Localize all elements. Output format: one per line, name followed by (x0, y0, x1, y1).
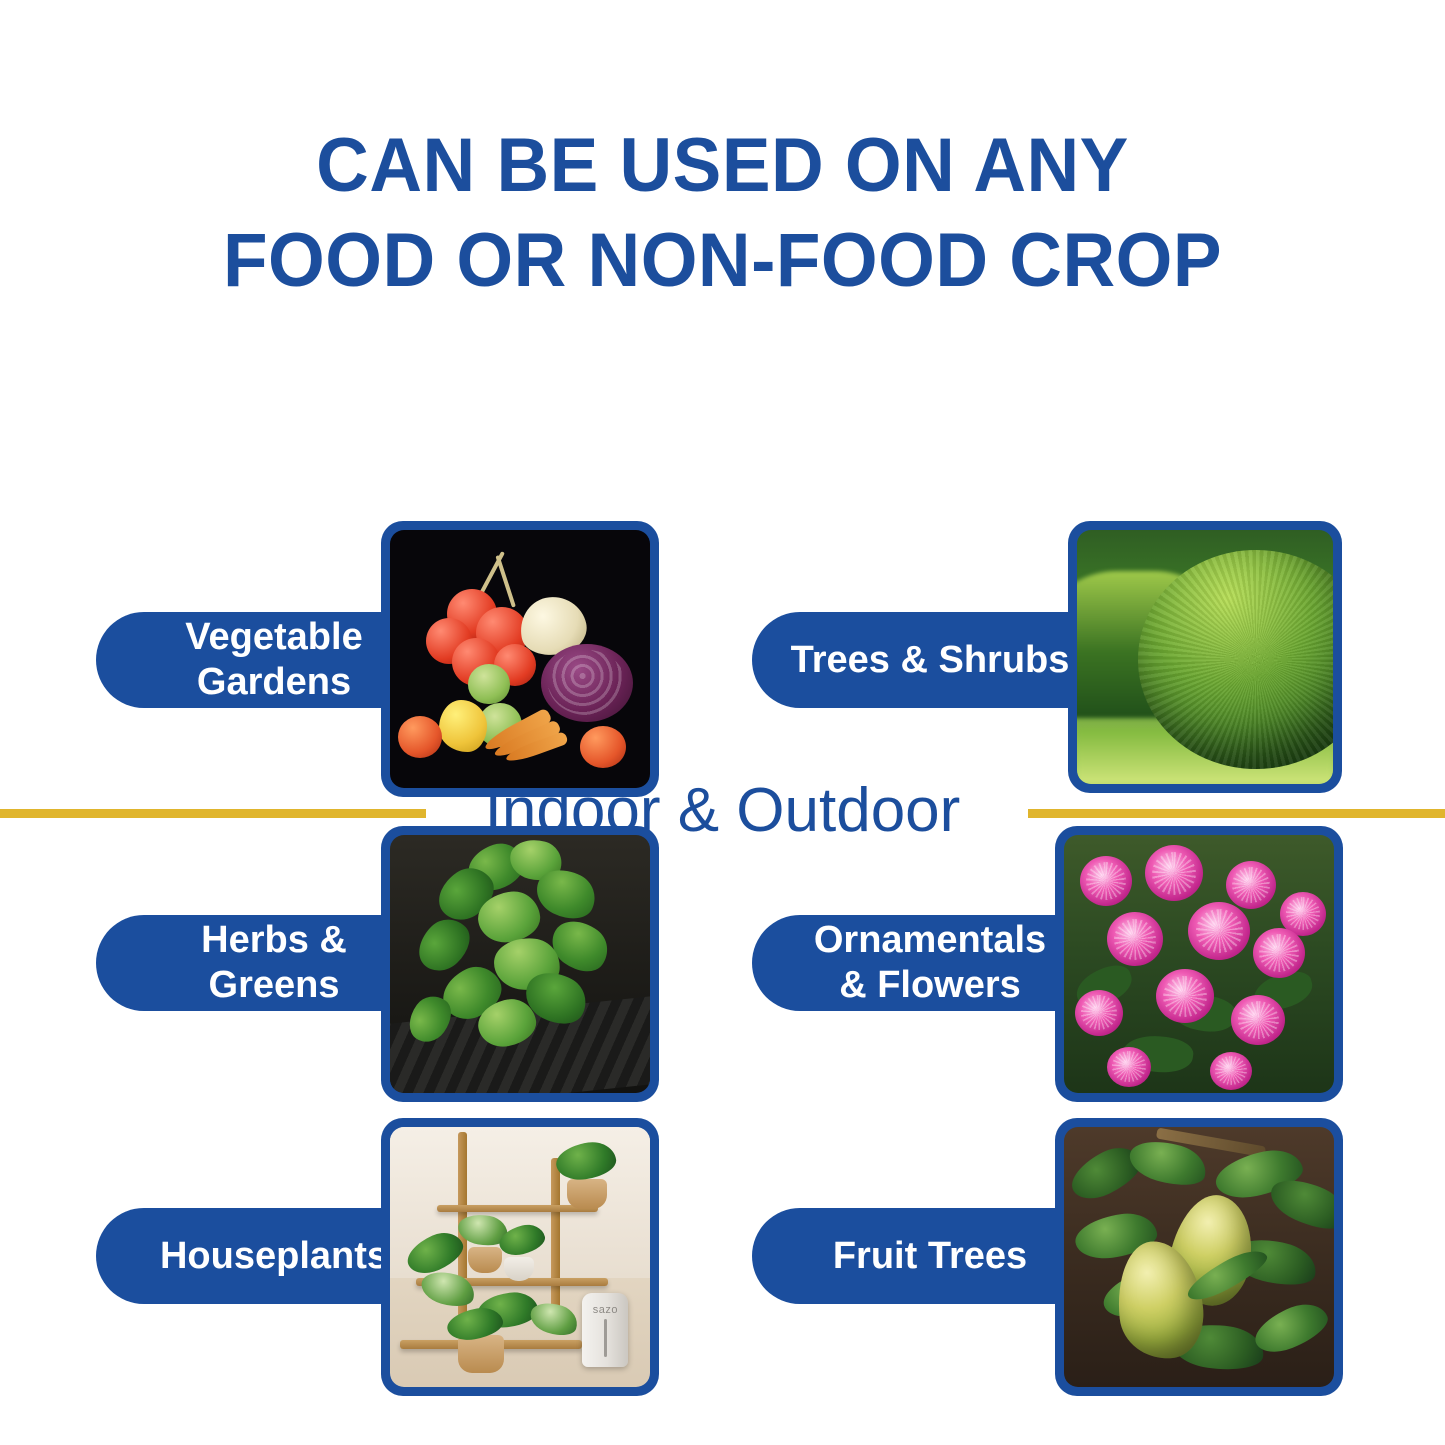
label-line: Vegetable (185, 615, 362, 660)
photo-herbs-greens (390, 835, 650, 1093)
label-line: Herbs & (201, 918, 347, 963)
category-label-ornamentals-flowers[interactable]: Ornamentals & Flowers (752, 915, 1082, 1011)
photo-fruit-trees (1064, 1127, 1334, 1387)
photo-trees-shrubs (1077, 530, 1333, 784)
photo-ornamentals-flowers (1064, 835, 1334, 1093)
label-line: Houseplants (160, 1234, 388, 1279)
category-image-card-vegetable-gardens[interactable] (381, 521, 659, 797)
category-label-herbs-greens[interactable]: Herbs & Greens (96, 915, 426, 1011)
photo-houseplants: sazo (390, 1127, 650, 1387)
category-label-houseplants[interactable]: Houseplants (96, 1208, 426, 1304)
label-line: Greens (201, 963, 347, 1008)
humidifier-brand-label: sazo (582, 1304, 628, 1316)
crop-category-grid: Vegetable Gardens (0, 0, 1445, 1445)
category-label-trees-shrubs[interactable]: Trees & Shrubs (752, 612, 1082, 708)
label-line: Gardens (185, 660, 362, 705)
category-image-card-ornamentals-flowers[interactable] (1055, 826, 1343, 1102)
category-image-card-fruit-trees[interactable] (1055, 1118, 1343, 1396)
label-line: Ornamentals (814, 918, 1046, 963)
humidifier-device: sazo (582, 1293, 628, 1367)
category-label-vegetable-gardens[interactable]: Vegetable Gardens (96, 612, 426, 708)
category-image-card-houseplants[interactable]: sazo (381, 1118, 659, 1396)
category-label-fruit-trees[interactable]: Fruit Trees (752, 1208, 1082, 1304)
photo-vegetable-gardens (390, 530, 650, 788)
label-line: Fruit Trees (833, 1234, 1027, 1279)
category-image-card-herbs-greens[interactable] (381, 826, 659, 1102)
category-image-card-trees-shrubs[interactable] (1068, 521, 1342, 793)
label-line: & Flowers (814, 963, 1046, 1008)
label-line: Trees & Shrubs (791, 638, 1070, 683)
